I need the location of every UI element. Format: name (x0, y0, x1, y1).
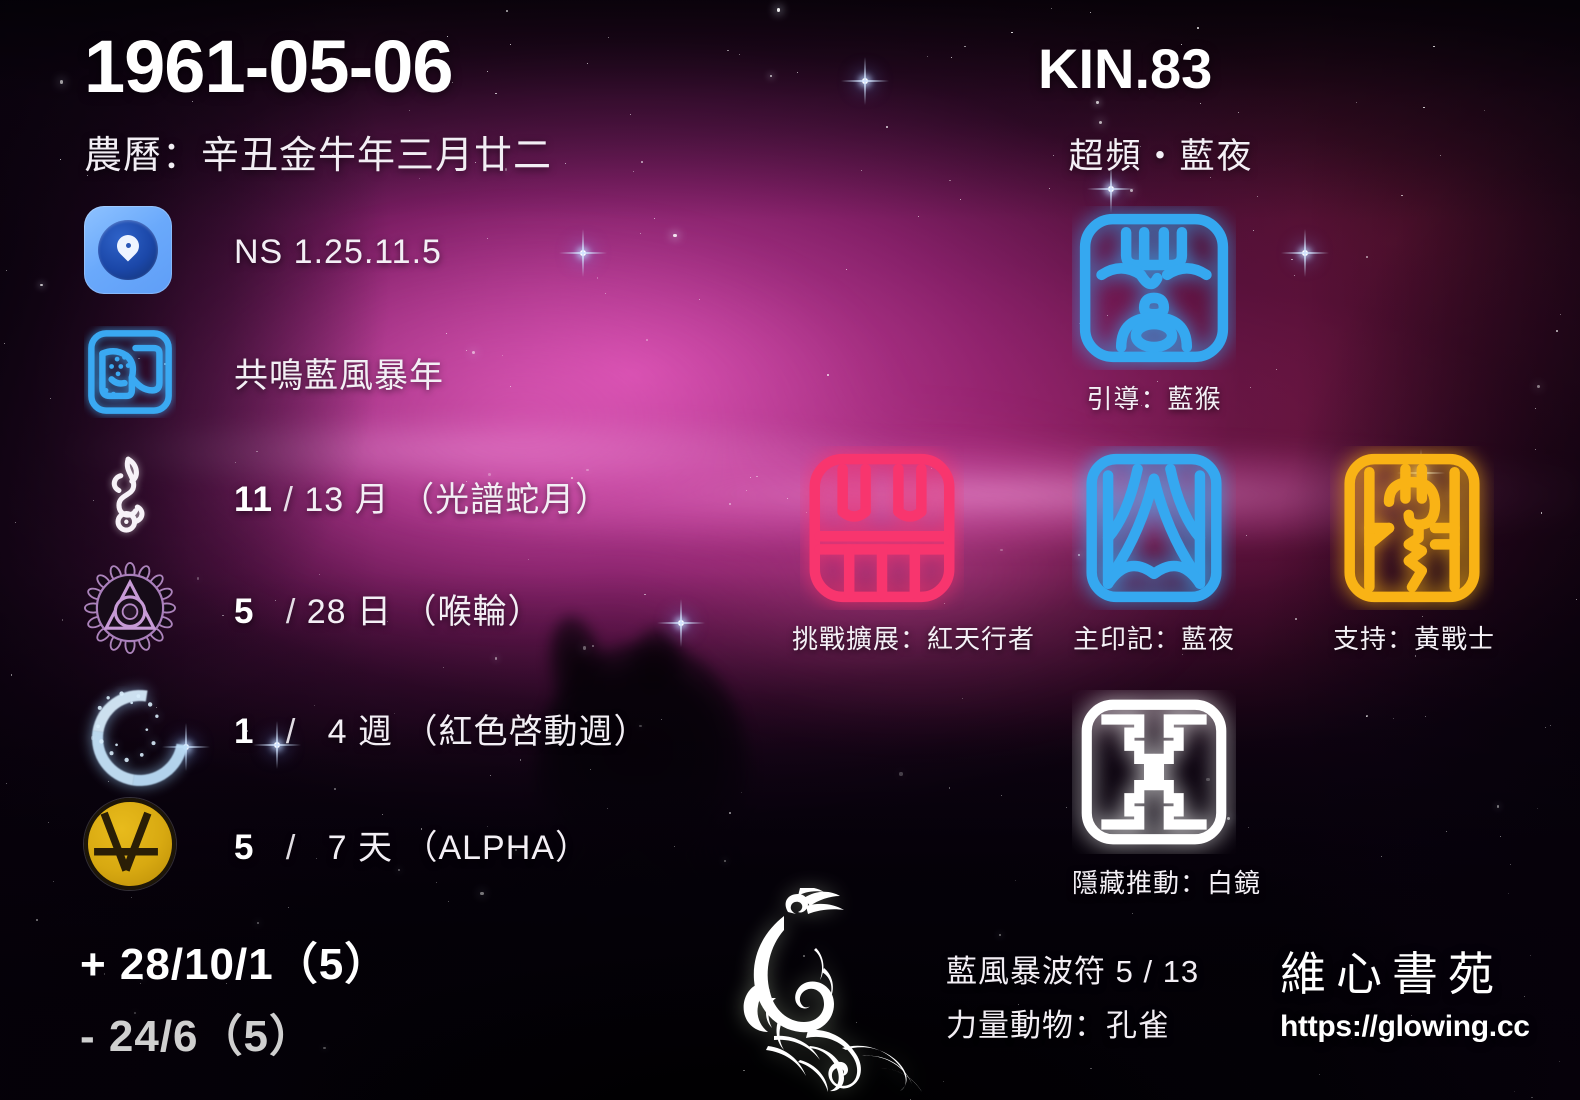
week-sep: / (286, 713, 296, 751)
week-total: 4 (328, 713, 348, 751)
glyph-card-support: 支持：黃戰士 (1330, 446, 1494, 656)
row-month: 11 / 13 月 （光譜蛇月） (84, 450, 610, 542)
row-week: 1 / 4 週 （紅色啓動週） (84, 682, 648, 774)
plus-values: + 28/10/1（5） (80, 928, 389, 992)
glyph-card-main: 主印記：藍夜 (1072, 446, 1236, 656)
white-mirror-glyph-icon (1072, 690, 1261, 854)
blue-night-glyph-icon (1072, 446, 1236, 610)
day-sep: / (286, 593, 296, 631)
peacock-ornament-icon (712, 888, 938, 1093)
plasma-sep: / (286, 829, 296, 867)
throat-chakra-icon (84, 562, 176, 654)
week-index: 1 (234, 712, 254, 751)
power-animal-info: 力量動物：孔雀 (946, 1000, 1170, 1045)
kin-tone-seal: 超頻・藍夜 (1036, 128, 1286, 179)
day-chakra: （喉輪） (402, 593, 542, 631)
snake-moon-icon (84, 450, 176, 542)
kin-number: KIN.83 (1038, 36, 1212, 101)
glyph-card-hidden: 隱藏推動：白鏡 (1072, 690, 1261, 900)
lunar-date: 農曆：辛丑金牛年三月廿二 (84, 124, 552, 179)
row-year: 共鳴藍風暴年 (84, 326, 444, 418)
plasma-text: 5 / 7 天 （ALPHA） (234, 820, 590, 869)
month-name: （光譜蛇月） (400, 481, 610, 519)
brand-watermark: 維心書苑 https://glowing.cc (1280, 938, 1570, 1044)
plasma-name: （ALPHA） (403, 829, 590, 867)
plasma-unit: 天 (358, 829, 393, 867)
week-name: （紅色啓動週） (403, 713, 648, 751)
row-day: 5 / 28 日 （喉輪） (84, 562, 542, 654)
blue-monkey-glyph-icon (1072, 206, 1236, 370)
month-unit: 月 (355, 481, 390, 519)
brand-url-text: https://glowing.cc (1280, 1010, 1570, 1044)
glyph-card-guide: 引導：藍猴 (1072, 206, 1236, 416)
location-pin-icon (84, 206, 176, 298)
brand-name: 維心書苑 (1280, 938, 1570, 1004)
week-unit: 週 (358, 713, 393, 751)
plasma-index: 5 (234, 828, 254, 867)
yellow-alpha-icon (84, 798, 176, 890)
month-index: 11 (234, 480, 273, 519)
guide-caption: 引導：藍猴 (1072, 379, 1236, 416)
water-moon-icon (84, 682, 176, 774)
day-index: 5 (234, 592, 254, 631)
challenge-caption: 挑戰擴展：紅天行者 (792, 619, 1035, 656)
plasma-total: 7 (328, 829, 348, 867)
day-total: 28 (307, 593, 347, 631)
support-caption: 支持：黃戰士 (1332, 619, 1496, 656)
gregorian-date: 1961-05-06 (84, 24, 453, 109)
year-text: 共鳴藍風暴年 (234, 348, 444, 397)
yellow-warrior-glyph-icon (1330, 446, 1494, 610)
hidden-caption: 隱藏推動：白鏡 (1072, 863, 1261, 900)
poster-canvas: 1961-05-06 農曆：辛丑金牛年三月廿二 NS 1.25.11.5 (0, 0, 1580, 1100)
month-sep: / (283, 481, 293, 519)
month-total: 13 (304, 481, 344, 519)
minus-values: - 24/6（5） (80, 1000, 314, 1064)
red-skywalker-glyph-icon (800, 446, 1043, 610)
main-caption: 主印記：藍夜 (1072, 619, 1236, 656)
row-plasma: 5 / 7 天 （ALPHA） (84, 798, 590, 890)
day-unit: 日 (357, 593, 392, 631)
day-text: 5 / 28 日 （喉輪） (234, 584, 542, 633)
blue-storm-glyph-icon (84, 326, 176, 418)
glyph-card-challenge: 挑戰擴展：紅天行者 (800, 446, 1043, 656)
wavespell-info: 藍風暴波符 5 / 13 (946, 946, 1199, 991)
month-text: 11 / 13 月 （光譜蛇月） (234, 472, 610, 521)
week-text: 1 / 4 週 （紅色啓動週） (234, 704, 648, 753)
ns-code-text: NS 1.25.11.5 (234, 233, 442, 272)
row-ns-code: NS 1.25.11.5 (84, 206, 442, 298)
